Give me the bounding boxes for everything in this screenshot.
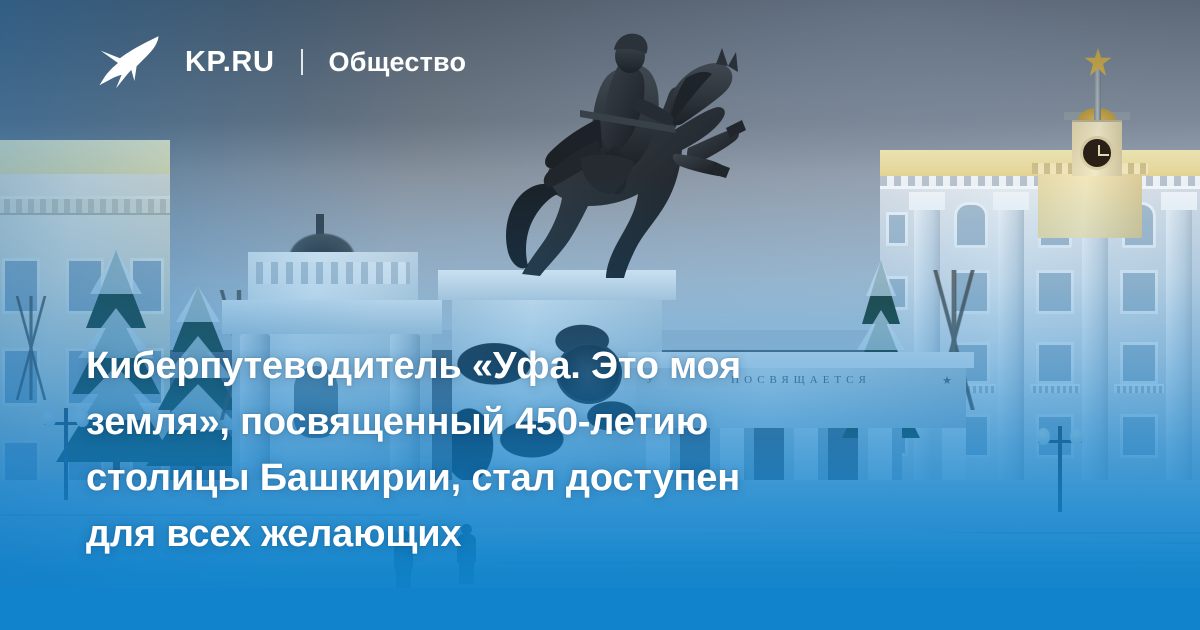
headline: Киберпутеводитель «Уфа. Это моя земля», … bbox=[86, 338, 986, 562]
headline-line: Киберпутеводитель «Уфа. Это моя bbox=[86, 338, 986, 394]
header-divider bbox=[301, 49, 303, 75]
swallow-bird-logo-icon[interactable] bbox=[97, 33, 163, 91]
social-share-card: У ПОСВЯЩАЕТСЯ ★ bbox=[0, 0, 1200, 630]
card-header: KP.RU Общество bbox=[97, 33, 466, 91]
headline-line: для всех желающих bbox=[86, 506, 986, 562]
bottom-solid-bar bbox=[0, 588, 1200, 630]
headline-line: земля», посвященный 450-летию bbox=[86, 394, 986, 450]
rubric-label[interactable]: Общество bbox=[329, 49, 467, 76]
brand-label[interactable]: KP.RU bbox=[185, 48, 275, 77]
headline-line: столицы Башкирии, стал доступен bbox=[86, 450, 986, 506]
